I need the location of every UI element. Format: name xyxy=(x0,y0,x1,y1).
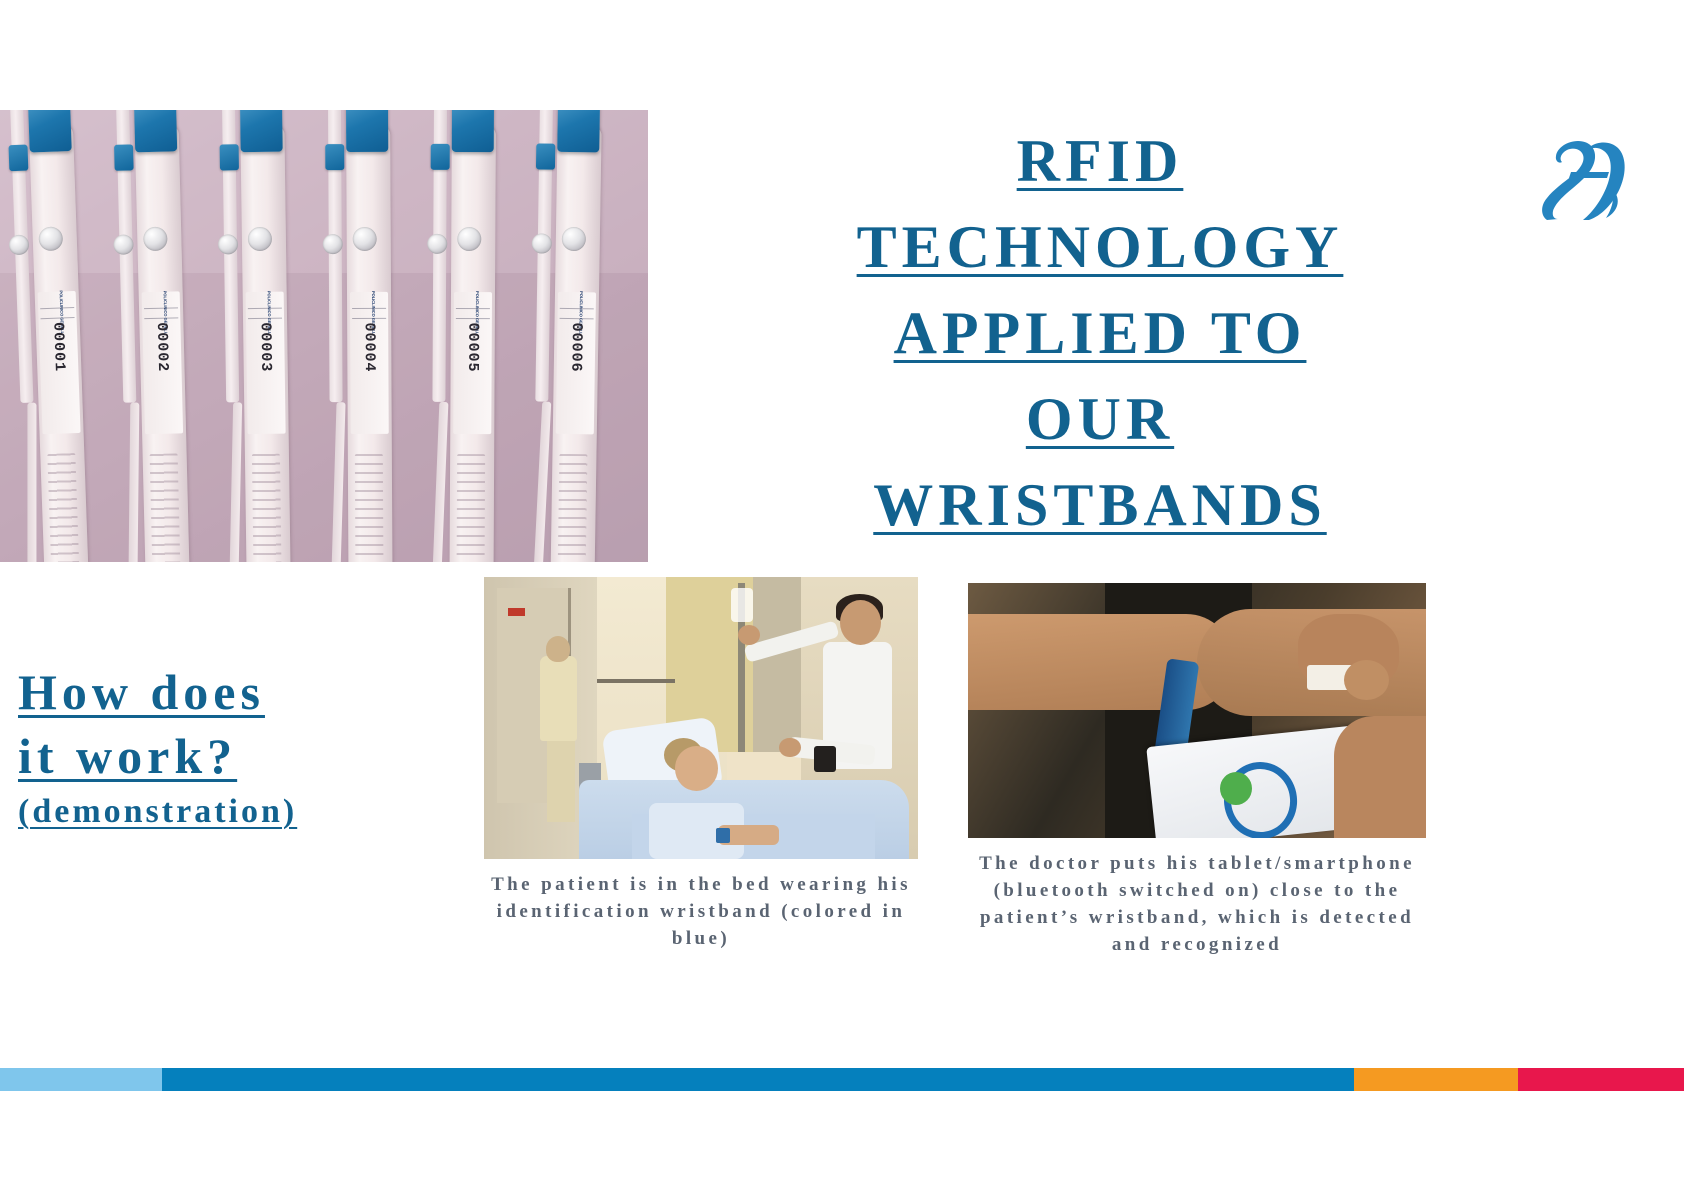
rfid-tag-large xyxy=(134,110,177,152)
segment-light-blue xyxy=(0,1068,162,1091)
rfid-tag-small xyxy=(325,144,344,170)
section-heading-line-2: it work? xyxy=(18,724,448,788)
rfid-wristbands-photo: POLICLINICO GEMELLI 00001 POLICLINICO GE… xyxy=(0,110,648,562)
title-line-3: APPLIED TO xyxy=(800,290,1400,376)
slide-title: RFID TECHNOLOGY APPLIED TO OUR WRISTBAND… xyxy=(800,118,1400,548)
wristband-serial: 00003 xyxy=(257,322,275,362)
wristband-brand-text: POLICLINICO GEMELLI xyxy=(51,290,64,316)
section-heading-line-1: How does xyxy=(18,660,448,724)
rfid-tag-small xyxy=(114,144,134,170)
iv-bag xyxy=(731,588,753,622)
metallic-seal-icon xyxy=(457,227,481,251)
wristband-item: POLICLINICO GEMELLI 00006 xyxy=(529,110,610,562)
wristband-item: POLICLINICO GEMELLI 00002 xyxy=(112,110,197,562)
rfid-tag-small xyxy=(220,144,239,170)
fd-monogram-logo xyxy=(1527,128,1637,233)
wristband-brand-text: POLICLINICO GEMELLI xyxy=(467,291,479,317)
wristband-item: POLICLINICO GEMELLI 00003 xyxy=(218,110,299,562)
title-line-1: RFID xyxy=(800,118,1400,204)
metallic-seal-icon xyxy=(427,234,447,254)
wristband-brand-text: POLICLINICO GEMELLI xyxy=(571,291,583,317)
wristband-serial: 00005 xyxy=(464,322,481,362)
title-line-4: OUR xyxy=(800,376,1400,462)
wristband-serial: 00001 xyxy=(49,322,67,363)
slide-canvas: POLICLINICO GEMELLI 00001 POLICLINICO GE… xyxy=(0,0,1684,1190)
rfid-tag-large xyxy=(28,110,72,152)
title-line-2: TECHNOLOGY xyxy=(800,204,1400,290)
doctor-scanning-caption: The doctor puts his tablet/smartphone (b… xyxy=(968,850,1426,958)
blue-wristband-on-patient xyxy=(716,828,730,844)
exit-sign-icon xyxy=(508,608,525,616)
doctor-scanning-card: The doctor puts his tablet/smartphone (b… xyxy=(968,583,1426,958)
rfid-tag-large xyxy=(452,110,494,152)
rfid-tag-small xyxy=(8,145,28,172)
bottom-color-bar xyxy=(0,1068,1684,1091)
wristband-serial: 00004 xyxy=(361,322,378,362)
rfid-tag-small xyxy=(536,143,555,169)
patient-in-bed-caption: The patient is in the bed wearing his id… xyxy=(484,871,918,952)
section-subtitle: (demonstration) xyxy=(18,788,448,836)
segment-red xyxy=(1518,1068,1684,1091)
patient-in-bed-card: The patient is in the bed wearing his id… xyxy=(484,577,918,952)
wristband-brand-text: POLICLINICO GEMELLI xyxy=(155,291,168,317)
metallic-seal-icon xyxy=(353,227,377,251)
rfid-tag-small xyxy=(431,144,450,170)
doctor-scanning-wristband-with-tablet-photo xyxy=(968,583,1426,838)
title-line-5: WRISTBANDS xyxy=(800,462,1400,548)
rfid-tag-large xyxy=(346,110,388,152)
rfid-tag-large xyxy=(557,110,600,152)
section-heading-block: How does it work? (demonstration) xyxy=(18,660,448,836)
patient-in-hospital-bed-photo xyxy=(484,577,918,859)
segment-blue xyxy=(162,1068,1354,1091)
rfid-tag-large xyxy=(240,110,283,152)
app-logo-icon xyxy=(1220,772,1252,805)
metallic-seal-icon xyxy=(323,234,343,254)
wristband-brand-text: POLICLINICO GEMELLI xyxy=(259,291,271,317)
wristband-brand-text: POLICLINICO GEMELLI xyxy=(363,291,375,317)
segment-orange xyxy=(1354,1068,1518,1091)
wristband-item: POLICLINICO GEMELLI 00004 xyxy=(324,110,400,562)
wristband-serial: 00002 xyxy=(153,322,171,362)
wristband-item: POLICLINICO GEMELLI 00005 xyxy=(428,110,504,562)
wristband-serial: 00006 xyxy=(567,322,585,362)
